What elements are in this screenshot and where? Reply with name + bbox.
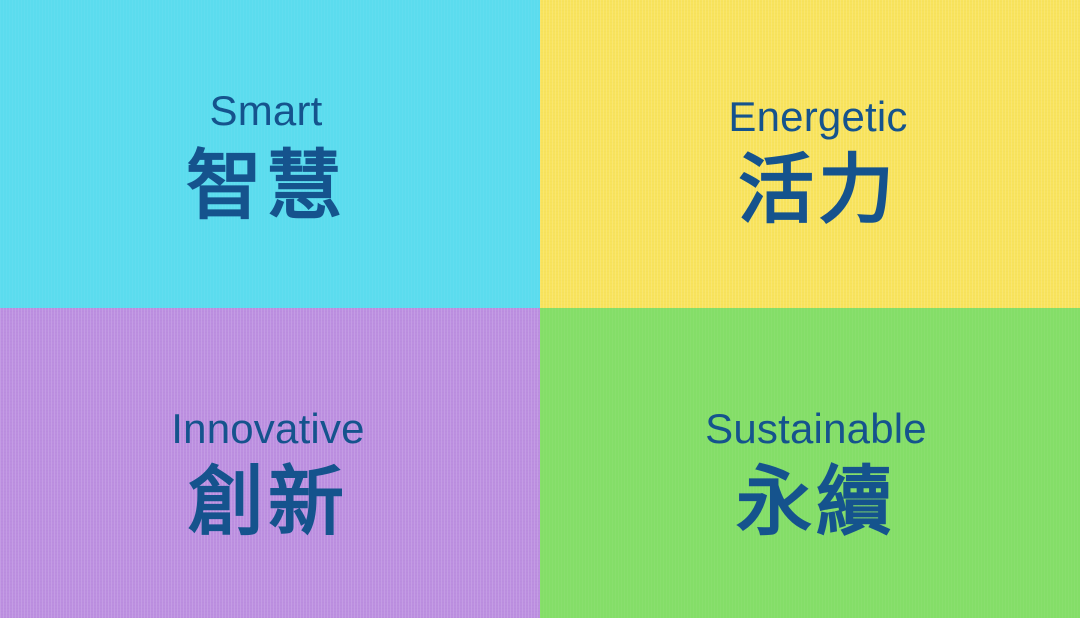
label-stack-energetic: Energetic 活力 [728,96,907,228]
label-stack-sustainable: Sustainable 永續 [705,408,927,540]
quadrant-innovative: Innovative 創新 [0,308,540,618]
quadrant-sustainable: Sustainable 永續 [540,308,1080,618]
chinese-label-smart: 智慧 [186,148,346,224]
chinese-label-energetic: 活力 [738,152,898,228]
label-stack-smart: Smart 智慧 [186,90,346,224]
english-label-innovative: Innovative [171,408,364,450]
quadrant-smart: Smart 智慧 [0,0,540,308]
label-stack-innovative: Innovative 創新 [171,408,364,540]
chinese-label-sustainable: 永續 [736,464,896,540]
english-label-sustainable: Sustainable [705,408,927,450]
quadrant-board: Smart 智慧 Energetic 活力 Innovative 創新 Sust… [0,0,1080,618]
english-label-energetic: Energetic [728,96,907,138]
english-label-smart: Smart [209,90,322,132]
quadrant-energetic: Energetic 活力 [540,0,1080,308]
chinese-label-innovative: 創新 [188,464,348,540]
